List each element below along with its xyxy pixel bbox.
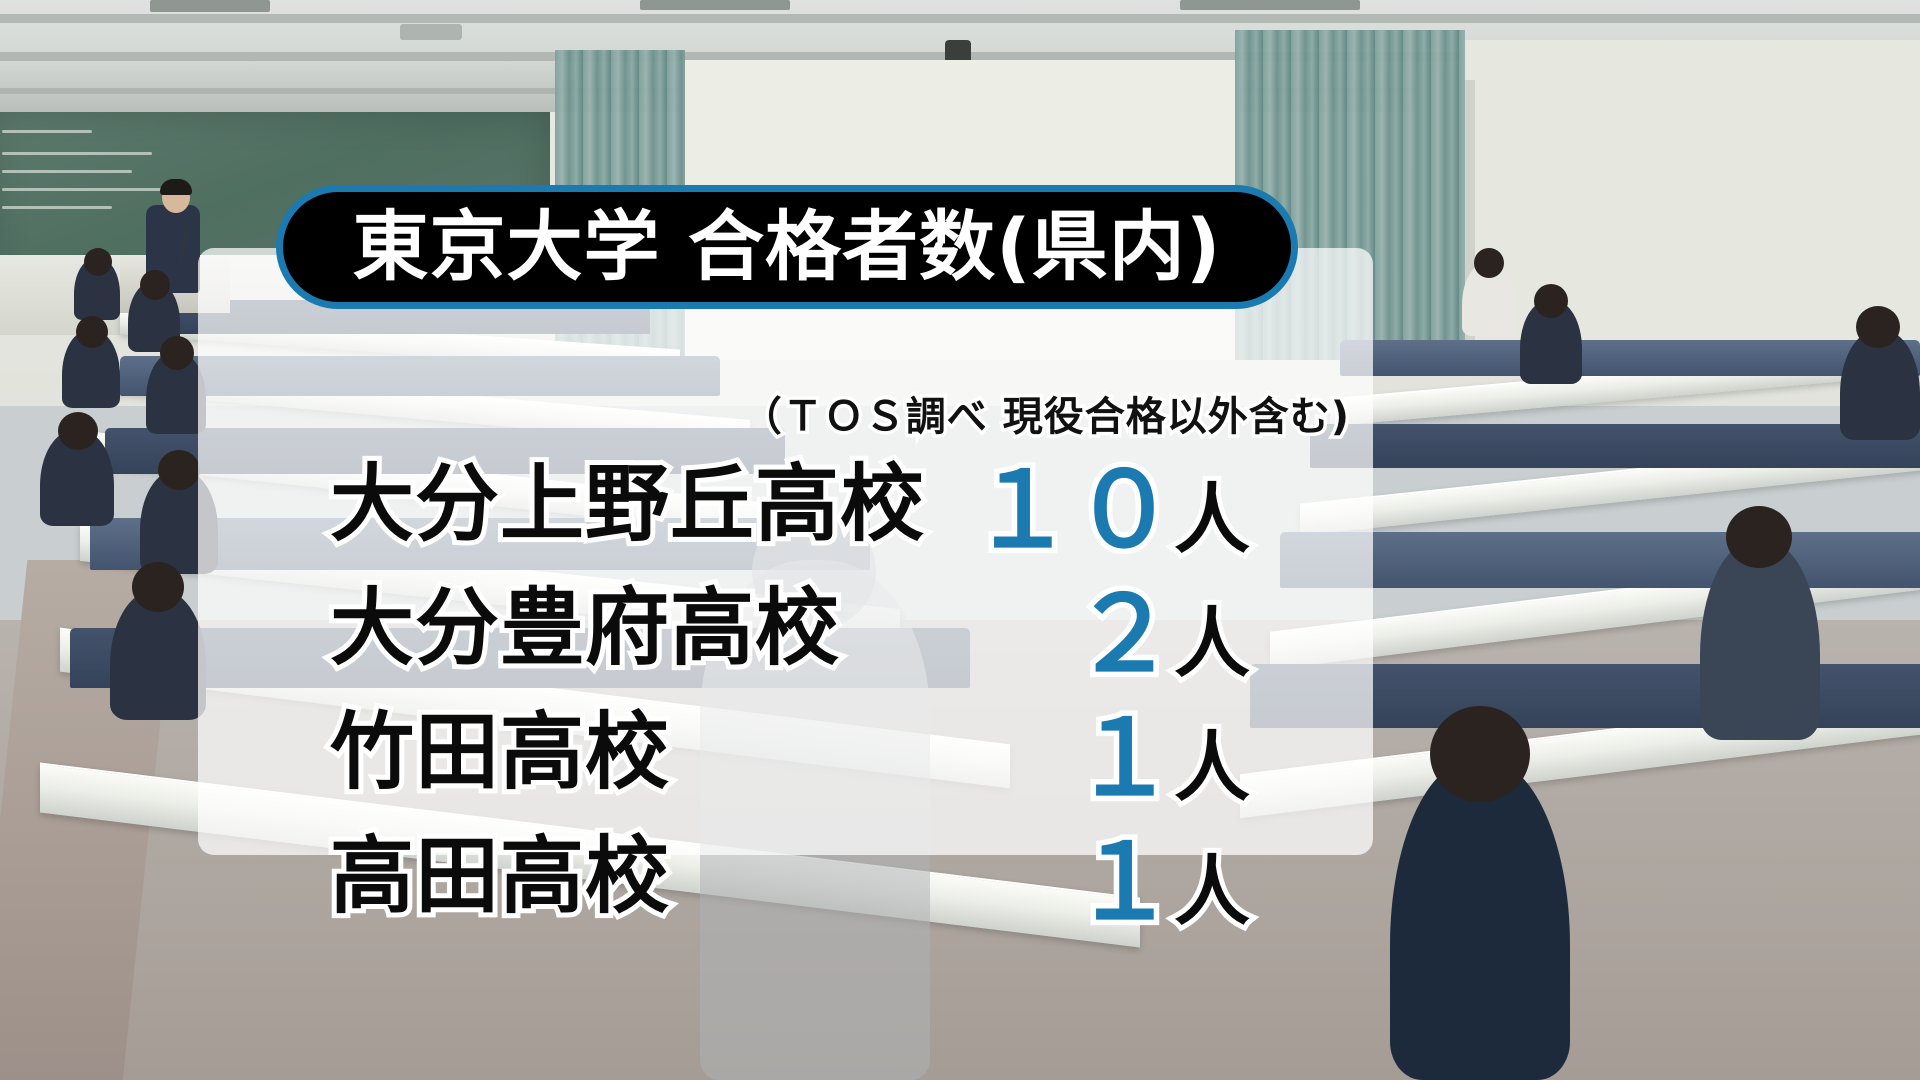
school-name: 竹田高校 xyxy=(330,710,670,794)
count-group: １人 xyxy=(1072,706,1250,810)
count-group: １人 xyxy=(1072,830,1250,934)
projector xyxy=(400,24,462,40)
ceiling-vent xyxy=(1180,0,1360,10)
count-value: ２ xyxy=(1072,582,1174,686)
school-name: 高田高校 xyxy=(330,834,670,918)
count-unit: 人 xyxy=(1174,730,1250,806)
count-unit: 人 xyxy=(1174,854,1250,930)
lecturer-hair xyxy=(160,179,192,195)
list-item: 竹田高校 １人 xyxy=(330,690,1250,814)
student-head xyxy=(140,270,170,300)
student-head xyxy=(158,450,200,490)
student-head xyxy=(1474,248,1504,278)
count-value: １ xyxy=(1072,830,1174,934)
student-head xyxy=(1534,284,1568,318)
seat-row xyxy=(1310,424,1920,468)
ceiling-vent xyxy=(640,0,790,10)
student-silhouette xyxy=(1700,540,1820,740)
page-title: 東京大学 合格者数(県内) xyxy=(353,209,1222,285)
student-head xyxy=(1726,506,1792,568)
results-list: 大分上野丘高校 １０人 大分豊府高校 ２人 竹田高校 １人 高田高校 １人 xyxy=(330,442,1250,938)
count-group: １０人 xyxy=(970,458,1250,562)
source-note: （ＴＯＳ調べ 現役合格以外含む) xyxy=(0,384,1350,442)
ceiling-vent xyxy=(150,0,270,12)
seat-row xyxy=(1280,532,1920,588)
list-item: 大分上野丘高校 １０人 xyxy=(330,442,1250,566)
title-banner: 東京大学 合格者数(県内) xyxy=(276,185,1298,309)
student-silhouette xyxy=(1390,760,1570,1080)
student-head xyxy=(1430,706,1530,802)
news-graphic-stage: 東京大学 合格者数(県内) （ＴＯＳ調べ 現役合格以外含む) 大分上野丘高校 １… xyxy=(0,0,1920,1080)
count-value: １０ xyxy=(970,458,1174,562)
count-unit: 人 xyxy=(1174,482,1250,558)
student-head xyxy=(160,336,194,370)
count-value: １ xyxy=(1072,706,1174,810)
ceiling-beam xyxy=(0,14,1920,23)
student-head xyxy=(84,248,112,276)
school-name: 大分豊府高校 xyxy=(330,586,840,670)
student-head xyxy=(76,316,108,348)
seat-row xyxy=(1340,340,1920,376)
list-item: 大分豊府高校 ２人 xyxy=(330,566,1250,690)
student-head xyxy=(1856,306,1900,348)
list-item: 高田高校 １人 xyxy=(330,814,1250,938)
school-name: 大分上野丘高校 xyxy=(330,462,925,546)
student-head xyxy=(132,562,184,612)
count-group: ２人 xyxy=(1072,582,1250,686)
count-unit: 人 xyxy=(1174,606,1250,682)
